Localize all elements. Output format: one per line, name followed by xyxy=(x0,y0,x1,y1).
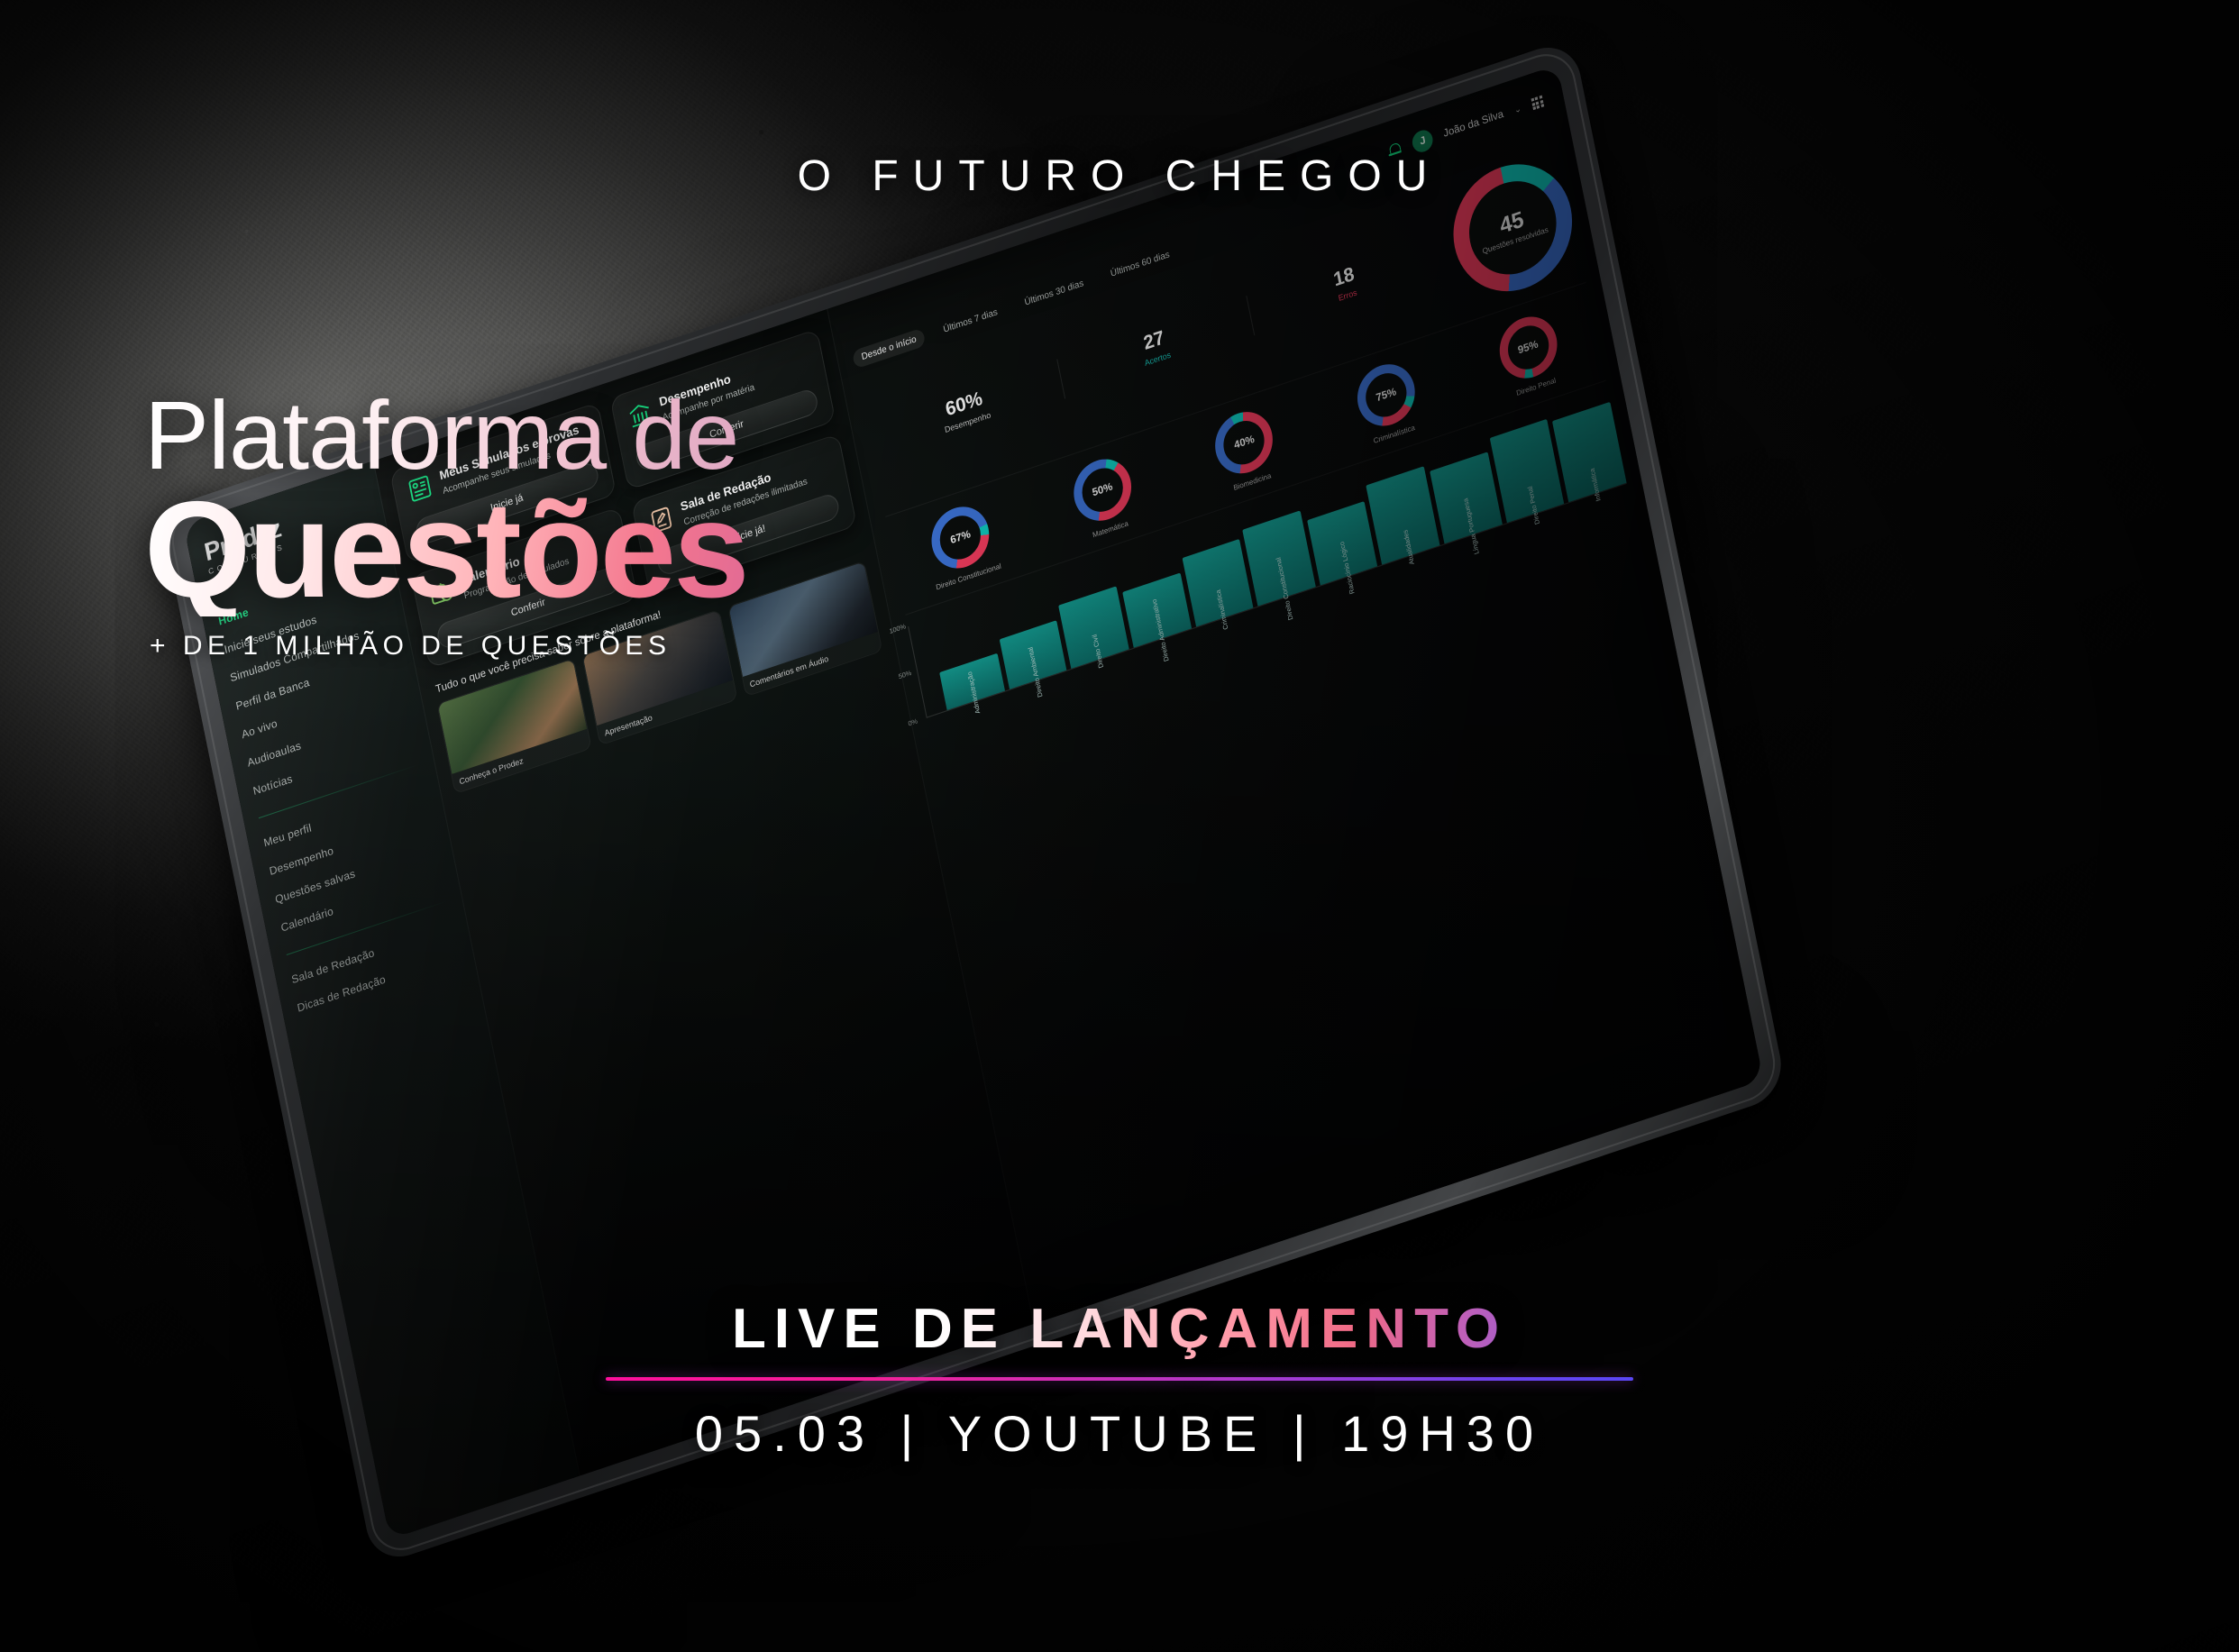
bar: Raciocínio Lógico xyxy=(1307,501,1378,586)
bar-label: Administração xyxy=(967,671,982,715)
bar: Direito Penal xyxy=(1489,419,1564,524)
ring-chart: 75% xyxy=(1352,356,1421,434)
bar: Direito Civil xyxy=(1058,586,1129,669)
page-subtitle: + DE 1 MILHÃO DE QUESTÕES xyxy=(150,631,747,662)
bar: Criminalística xyxy=(1182,539,1254,627)
title-block: Plataforma de Questões + DE 1 MILHÃO DE … xyxy=(144,388,747,662)
bar: Administração xyxy=(939,653,1005,711)
y-axis-tick-top: 100% xyxy=(889,624,906,635)
grid-menu-icon[interactable] xyxy=(1531,95,1544,110)
promo-poster: Prodez CONCURSOS Home Inicie seus estudo… xyxy=(0,0,2239,1652)
bar: Atualidades xyxy=(1366,466,1440,565)
ring-value: 67% xyxy=(927,498,995,576)
kpi-desempenho: 60% Desempenho xyxy=(867,361,1065,461)
bar: Direito Administrativo xyxy=(1122,572,1192,648)
ring-chart: 40% xyxy=(1211,404,1279,481)
kpi-erros: 18 Erros xyxy=(1247,234,1444,333)
page-title-line1: Plataforma de xyxy=(144,388,747,483)
ring-chart: 67% xyxy=(927,498,995,576)
chevron-down-icon[interactable]: ⌄ xyxy=(1513,103,1522,115)
ring-value: 95% xyxy=(1494,309,1563,387)
bar: Informática xyxy=(1552,401,1626,502)
y-axis-tick-mid: 50% xyxy=(898,670,912,680)
bar-label: Língua Portuguesa xyxy=(1463,497,1481,555)
kicker-text: O FUTURO CHEGOU xyxy=(0,151,2239,201)
bar-label: Direito Ambiental xyxy=(1028,646,1045,698)
kpi-acertos: 27 Acertos xyxy=(1056,297,1254,397)
bar-label: Direito Constitucional xyxy=(1275,556,1294,621)
ring-chart: 95% xyxy=(1494,309,1563,387)
bar-label: Raciocínio Lógico xyxy=(1339,541,1356,595)
bar-label: Direito Penal xyxy=(1527,486,1541,525)
bar-label: Direito Civil xyxy=(1092,634,1106,669)
bar-label: Informática xyxy=(1590,467,1603,502)
gradient-divider xyxy=(606,1377,1633,1381)
event-datetime: 05.03 | YOUTUBE | 19H30 xyxy=(0,1404,2239,1463)
live-announcement: LIVE DE LANÇAMENTO 05.03 | YOUTUBE | 19H… xyxy=(0,1297,2239,1463)
bar-label: Criminalística xyxy=(1216,589,1230,630)
bar-label: Direito Administrativo xyxy=(1151,598,1170,662)
y-axis-tick-bottom: 0% xyxy=(908,718,918,728)
ring-value: 75% xyxy=(1352,356,1421,434)
ring-chart: 50% xyxy=(1068,452,1137,529)
bar: Língua Portuguesa xyxy=(1430,452,1502,544)
bar-label: Atualidades xyxy=(1403,529,1416,566)
live-label: LIVE DE LANÇAMENTO xyxy=(732,1297,1507,1361)
page-title-line2: Questões xyxy=(144,485,747,616)
ring-value: 50% xyxy=(1068,452,1137,529)
bar: Direito Constitucional xyxy=(1243,511,1316,607)
ring-value: 40% xyxy=(1211,404,1279,481)
bar: Direito Ambiental xyxy=(999,620,1066,689)
